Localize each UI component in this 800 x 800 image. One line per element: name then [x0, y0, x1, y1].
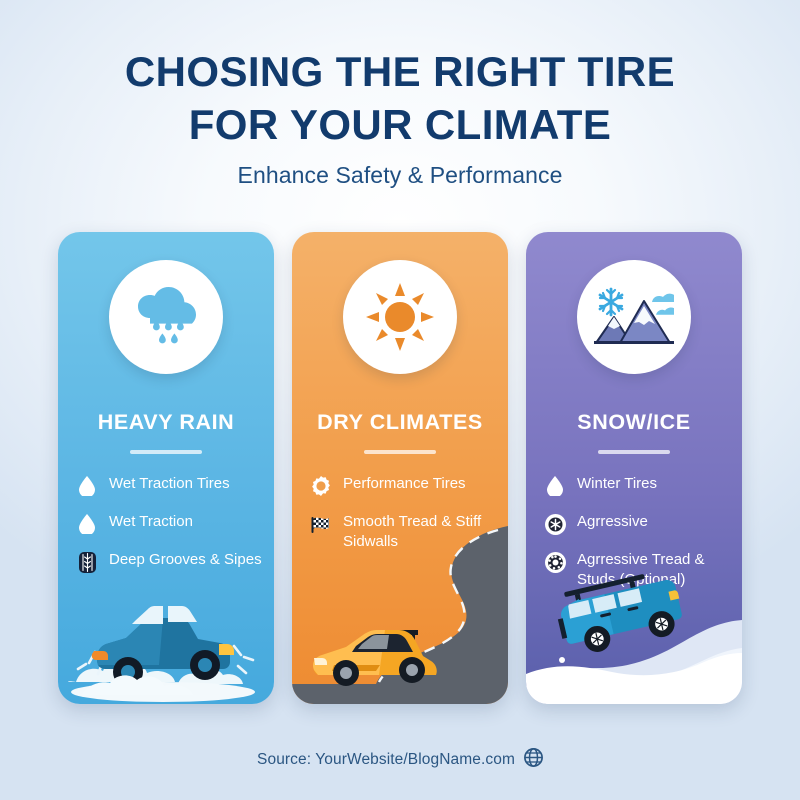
water-droplet-icon: [544, 475, 566, 497]
list-item-label: Agrressive: [577, 512, 648, 532]
list-item: Smooth Tread & Stiff Sidwalls: [310, 512, 496, 552]
page-subtitle: Enhance Safety & Performance: [0, 162, 800, 189]
sun-icon: [366, 283, 434, 351]
list-item: Winter Tires: [544, 474, 730, 497]
card-title-snow-ice: SNOW/ICE: [526, 410, 742, 435]
bullet-list-heavy-rain: Wet Traction Tires Wet Traction: [76, 474, 262, 588]
header: CHOSING THE RIGHT TIRE FOR YOUR CLIMATE …: [0, 46, 800, 189]
list-item-label: Agrressive Tread & Studs (Optional): [577, 550, 730, 590]
card-heavy-rain[interactable]: HEAVY RAIN Wet Traction Tires Wet Tracti…: [58, 232, 274, 704]
tire-tread-icon: [76, 551, 98, 573]
page-title-line-2: FOR YOUR CLIMATE: [0, 99, 800, 152]
card-group: HEAVY RAIN Wet Traction Tires Wet Tracti…: [0, 232, 800, 704]
snowflake-tire-icon: [544, 513, 566, 535]
source-label: Source: YourWebsite/BlogName.com: [257, 751, 515, 769]
list-item: Wet Traction Tires: [76, 474, 262, 497]
snowy-mountain-icon: [594, 285, 674, 349]
list-item: Agrressive: [544, 512, 730, 535]
card-dry-climates[interactable]: DRY CLIMATES Performance Tires: [292, 232, 508, 704]
infographic-poster: CHOSING THE RIGHT TIRE FOR YOUR CLIMATE …: [0, 0, 800, 800]
list-item: Deep Grooves & Sipes: [76, 550, 262, 573]
water-droplet-icon: [76, 513, 98, 535]
page-title-line-1: CHOSING THE RIGHT TIRE: [0, 46, 800, 99]
list-item-label: Smooth Tread & Stiff Sidwalls: [343, 512, 496, 552]
list-item-label: Performance Tires: [343, 474, 466, 494]
studded-tire-icon: [544, 551, 566, 573]
list-item-label: Wet Traction: [109, 512, 193, 532]
list-item-label: Wet Traction Tires: [109, 474, 230, 494]
checkered-flag-icon: [310, 513, 332, 535]
badge-snow-ice: [577, 260, 691, 374]
list-item: Agrressive Tread & Studs (Optional): [544, 550, 730, 590]
list-item: Wet Traction: [76, 512, 262, 535]
rain-cloud-icon: [130, 284, 202, 350]
list-item-label: Winter Tires: [577, 474, 657, 494]
water-droplet-icon: [76, 475, 98, 497]
card-divider-snow-ice: [598, 450, 670, 454]
badge-dry-climates: [343, 260, 457, 374]
card-snow-ice[interactable]: SNOW/ICE Winter Tires: [526, 232, 742, 704]
footer: Source: YourWebsite/BlogName.com: [0, 748, 800, 772]
card-divider-dry-climates: [364, 450, 436, 454]
list-item: Performance Tires: [310, 474, 496, 497]
list-item-label: Deep Grooves & Sipes: [109, 550, 262, 570]
bullet-list-snow-ice: Winter Tires: [544, 474, 730, 605]
card-divider-heavy-rain: [130, 450, 202, 454]
badge-heavy-rain: [109, 260, 223, 374]
gear-icon: [310, 475, 332, 497]
card-title-heavy-rain: HEAVY RAIN: [58, 410, 274, 435]
card-title-dry-climates: DRY CLIMATES: [292, 410, 508, 435]
globe-icon[interactable]: [524, 748, 543, 772]
bullet-list-dry-climates: Performance Tires: [310, 474, 496, 567]
